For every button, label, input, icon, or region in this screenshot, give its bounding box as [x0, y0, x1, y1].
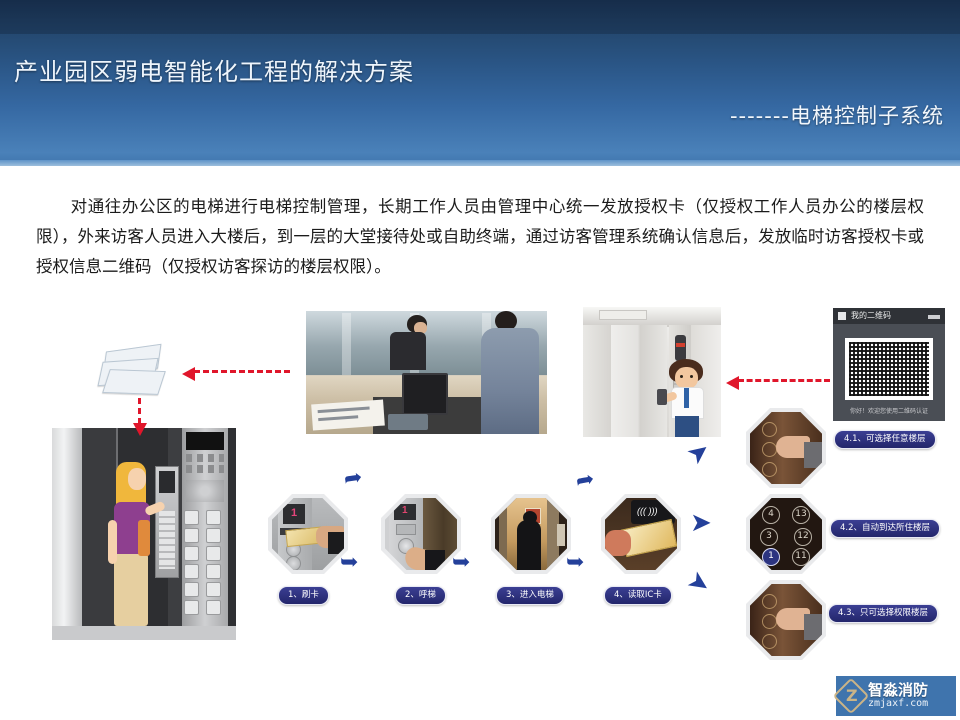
- watermark-name: 智淼消防: [868, 683, 928, 699]
- visitor-body: [481, 328, 539, 434]
- desk-monitor: [402, 373, 448, 415]
- woman-pants: [114, 554, 148, 626]
- woman-arm: [108, 520, 117, 564]
- header-top-band: [0, 0, 960, 34]
- floor-button: 12: [794, 528, 812, 546]
- panel-text-row: [186, 454, 224, 462]
- woman-bag: [138, 520, 150, 556]
- arrow-step4-next: ➥: [566, 552, 584, 574]
- qr-code-panel: 我的二维码 你好！欢迎您使用二维码认证: [833, 308, 945, 421]
- floor-button: [762, 594, 777, 609]
- arrow-to-outcome-1: ➤: [682, 436, 715, 470]
- card: [102, 369, 166, 395]
- ceiling-light: [599, 310, 647, 320]
- authorization-card-stack: [100, 348, 170, 392]
- sleeve: [804, 442, 822, 468]
- outcome-2-label: 4.2、自动到达所住楼层: [830, 519, 940, 538]
- outcome-1-label: 4.1、可选择任意楼层: [834, 430, 936, 449]
- elevator-door: [611, 325, 667, 437]
- floor-button: [762, 462, 777, 477]
- qr-panel-caption: 你好！欢迎您使用二维码认证: [833, 406, 945, 415]
- reader-keypad: [159, 511, 175, 569]
- arrow-to-outcome-3: ➤: [683, 566, 716, 600]
- hand-icon: [605, 530, 631, 556]
- cartoon-man-eye: [690, 375, 693, 378]
- panel-label: [396, 524, 416, 535]
- staff-body: [390, 332, 426, 370]
- desk-keyboard: [388, 414, 428, 430]
- menu-icon[interactable]: [928, 315, 940, 319]
- lobby-floor: [52, 626, 236, 640]
- person-body: [517, 520, 541, 570]
- logo-diamond-icon: [838, 683, 864, 709]
- slide-canvas: 产业园区弱电智能化工程的解决方案 -------电梯控制子系统 对通往办公区的电…: [0, 0, 960, 720]
- woman-face: [128, 468, 146, 490]
- arrow-reception-to-cards: [194, 370, 290, 373]
- elevator-lobby-illustration: [52, 428, 236, 640]
- floor-button: [762, 442, 777, 457]
- panel-text-row: [186, 465, 224, 473]
- outcome-3-label: 4.3、只可选择权限楼层: [828, 604, 938, 623]
- cartoon-man-phone: [657, 389, 667, 405]
- watermark-logo: 智淼消防 zmjaxf.com: [836, 676, 956, 716]
- floor-button: 13: [792, 506, 810, 524]
- card-reader-terminal[interactable]: [155, 466, 179, 578]
- arrow-step1-to-step2: ➦: [343, 467, 364, 491]
- page-title: 产业园区弱电智能化工程的解决方案: [14, 52, 414, 87]
- elevator-interior-photo: [583, 307, 721, 437]
- cartoon-man-eye: [680, 375, 683, 378]
- step-2-label: 2、呼梯: [395, 586, 446, 605]
- qr-code-image: [845, 338, 933, 400]
- sleeve: [804, 614, 822, 640]
- window-mullion: [342, 313, 351, 375]
- slide-header: 产业园区弱电智能化工程的解决方案 -------电梯控制子系统: [0, 0, 960, 166]
- sleeve: [328, 532, 344, 554]
- elevator-panel: [557, 524, 565, 546]
- qr-panel-titlebar: 我的二维码: [833, 308, 945, 324]
- page-subtitle: -------电梯控制子系统: [730, 100, 944, 130]
- desk-papers: [311, 400, 385, 431]
- app-icon: [838, 312, 846, 320]
- cartoon-man-face: [675, 367, 698, 389]
- qr-panel-title: 我的二维码: [851, 310, 891, 321]
- reception-desk-photo: [303, 311, 547, 434]
- speaker-grille: [186, 480, 224, 502]
- reader-display: 1: [283, 504, 305, 524]
- step-1-label: 1、刷卡: [278, 586, 329, 605]
- cartoon-man-legs: [675, 416, 699, 437]
- reader-display: [159, 471, 175, 493]
- floor-button: [762, 634, 777, 649]
- body-paragraph: 对通往办公区的电梯进行电梯控制管理，长期工作人员由管理中心统一发放授权卡（仅授权…: [36, 192, 924, 282]
- arrow-step4-up: ➦: [574, 469, 596, 494]
- arrow-to-outcome-2: ➤: [690, 510, 712, 536]
- floor-button: [762, 422, 777, 437]
- floor-button: [762, 614, 777, 629]
- mirror-wall: [52, 428, 82, 640]
- floor-indicator: [675, 335, 686, 361]
- arrow-qr-to-elevator: [738, 379, 830, 382]
- floor-button: 3: [760, 528, 778, 546]
- step-3-label: 3、进入电梯: [496, 586, 564, 605]
- elevator-wall-left: [583, 325, 611, 437]
- watermark-url: zmjaxf.com: [868, 699, 928, 710]
- floor-button: 4: [762, 506, 780, 524]
- step-4-label: 4、读取IC卡: [604, 586, 672, 605]
- cartoon-man-tie: [684, 388, 689, 408]
- arrow-step2-to-step3: ➥: [340, 552, 358, 574]
- floor-keypad: [184, 510, 226, 614]
- arrow-cards-to-lobby: [138, 398, 141, 424]
- lobby-display-screen: [186, 432, 224, 450]
